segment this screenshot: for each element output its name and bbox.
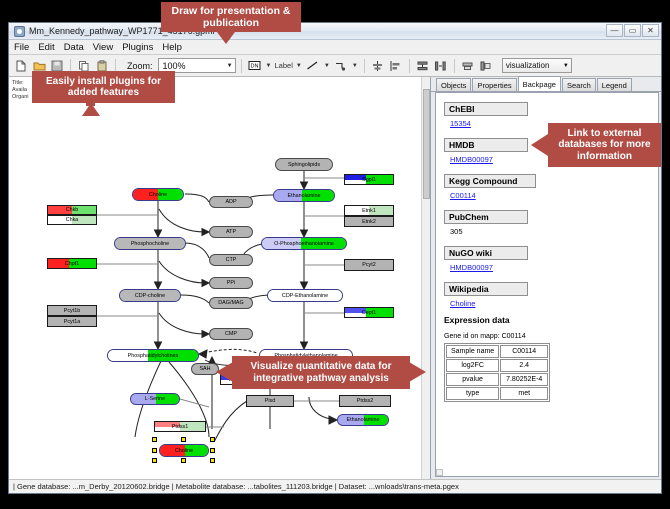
tab-properties[interactable]: Properties (472, 78, 516, 91)
tab-legend[interactable]: Legend (597, 78, 632, 91)
node-label: Phosphatidylcholines (128, 353, 179, 359)
zoom-value: 100% (163, 61, 186, 71)
status-bar-text: | Gene database: ...m_Derby_20120602.bri… (13, 482, 459, 491)
toolbar-separator-3 (241, 59, 242, 73)
node-label: L-Serine (145, 396, 165, 402)
node-label: ATP (226, 229, 236, 235)
node-label: Etnk2 (362, 219, 376, 225)
database-link[interactable]: C00114 (450, 191, 652, 200)
pathway-metabolite-node[interactable]: ADP (209, 196, 253, 208)
expression-key: pvalue (446, 373, 499, 386)
pathway-gene-node[interactable]: Etnk2 (344, 216, 394, 227)
node-label: CDP-choline (135, 293, 165, 299)
pathway-gene-node[interactable]: Chkb (47, 205, 97, 215)
pathway-gene-node[interactable]: Chpt1 (47, 258, 97, 269)
pathway-metabolite-node[interactable]: O-Phosphoethanolamine (261, 237, 347, 250)
expression-value: C00114 (500, 345, 548, 358)
pathway-metabolite-node[interactable]: PPi (209, 277, 253, 289)
callout-link-arrow (531, 134, 548, 156)
pathway-metabolite-node[interactable]: ATP (209, 226, 253, 238)
pathway-metabolite-node[interactable]: DAG/MAG (209, 297, 253, 309)
node-label: Chka (66, 217, 79, 223)
stack-icon[interactable] (460, 58, 476, 74)
visualization-combo[interactable]: visualization ▼ (502, 58, 572, 73)
side-panel-scroll-corner[interactable] (436, 469, 443, 476)
pathway-metabolite-node[interactable]: Phosphocholine (114, 237, 186, 250)
node-label: Pcyt2 (362, 262, 375, 268)
node-label: Chkb (66, 207, 79, 213)
menu-plugins[interactable]: Plugins (122, 42, 153, 53)
expression-value: met (500, 387, 548, 400)
pathway-metabolite-node[interactable]: Sphingolipids (275, 158, 333, 171)
menu-view[interactable]: View (93, 42, 113, 53)
pathway-metabolite-node[interactable]: CDP-Ethanolamine (267, 289, 343, 302)
expression-key: type (446, 387, 499, 400)
toolbar-separator-6 (454, 59, 455, 73)
pathway-gene-node[interactable]: Pcyt1b (47, 305, 97, 316)
order-icon[interactable] (478, 58, 494, 74)
tab-backpage[interactable]: Backpage (518, 76, 561, 91)
expression-table-row: pvalue7.80252E-4 (446, 373, 548, 386)
node-label: SAH (199, 366, 210, 372)
screenshot-root: Mm_Kennedy_pathway_WP1771_45176.gpml — ▭… (0, 0, 670, 509)
node-label: PPi (227, 280, 235, 286)
window-controls[interactable]: — ▭ ✕ (606, 24, 659, 37)
toolbar-separator-4 (364, 59, 365, 73)
pathway-gene-node[interactable]: Pisd (246, 395, 294, 407)
node-label: Choline (175, 448, 193, 454)
node-label: Sgpl1 (362, 177, 376, 183)
align-left-icon[interactable] (388, 58, 404, 74)
database-link[interactable]: HMDB00097 (450, 263, 652, 272)
database-section-header: ChEBI (444, 102, 528, 116)
callout-draw-arrow (217, 32, 235, 44)
database-section-header: Kegg Compound (444, 174, 536, 188)
pathway-metabolite-node[interactable]: CTP (209, 254, 253, 266)
maximize-button[interactable]: ▭ (624, 24, 641, 37)
new-icon[interactable] (13, 58, 29, 74)
node-label: Pisd (265, 398, 276, 404)
node-label: Chpt1 (65, 261, 79, 267)
datanode-chevron-icon[interactable]: ▼ (265, 63, 273, 69)
expression-value: 2.4 (500, 359, 548, 372)
node-label: Ptdss1 (172, 424, 188, 430)
pathway-gene-node[interactable]: Etnk1 (344, 205, 394, 216)
callout-visualize-arrow-left (216, 362, 233, 382)
menu-file[interactable]: File (14, 42, 29, 53)
datanode-icon[interactable]: DN (247, 58, 263, 74)
menu-edit[interactable]: Edit (38, 42, 54, 53)
node-label: Phosphocholine (131, 241, 169, 247)
database-section-header: PubChem (444, 210, 528, 224)
anchor-icon[interactable] (333, 58, 349, 74)
status-bar: | Gene database: ...m_Derby_20120602.bri… (9, 479, 661, 493)
pathway-metabolite-node[interactable]: Phosphatidylcholines (107, 349, 199, 362)
menu-bar: File Edit Data View Plugins Help (9, 40, 661, 55)
visualization-chevron-icon[interactable]: ▼ (563, 63, 569, 69)
pathway-metabolite-node[interactable]: Choline (159, 444, 209, 457)
node-label: Choline (149, 192, 167, 198)
pathway-gene-node[interactable]: Ptdss1 (154, 421, 206, 432)
pathway-gene-node[interactable]: Pcyt1a (47, 316, 97, 327)
callout-draw: Draw for presentation & publication (161, 2, 301, 32)
callout-visualize-arrow-right (409, 362, 426, 382)
label-tool-label[interactable]: Label (275, 61, 293, 70)
database-section-header: Wikipedia (444, 282, 528, 296)
expression-key: Sample name (446, 345, 499, 358)
node-label: Sphingolipids (288, 162, 320, 168)
expression-table-row: typemet (446, 387, 548, 400)
node-label: Pcyt1a (64, 319, 80, 325)
side-panel-tabs: Objects Properties Backpage Search Legen… (431, 77, 661, 92)
expression-key: log2FC (446, 359, 499, 372)
callout-visualize: Visualize quantitative data for integrat… (232, 356, 410, 389)
pathway-gene-node[interactable]: Cept1 (344, 307, 394, 318)
pathway-gene-node[interactable]: Sgpl1 (344, 174, 394, 185)
pathway-metabolite-node[interactable]: SAH (191, 363, 219, 375)
toolbar-separator-5 (409, 59, 410, 73)
tab-objects[interactable]: Objects (436, 78, 471, 91)
align-center-icon[interactable] (370, 58, 386, 74)
pathway-gene-node[interactable]: Ptdss2 (339, 395, 391, 407)
chevron-down-icon[interactable]: ▼ (227, 63, 233, 69)
minimize-button[interactable]: — (606, 24, 623, 37)
expression-table: Sample nameC00114log2FC2.4pvalue7.80252E… (444, 343, 550, 402)
pathway-metabolite-node[interactable]: CMP (209, 328, 253, 340)
close-button[interactable]: ✕ (642, 24, 659, 37)
expression-data-title: Expression data (444, 315, 652, 325)
node-label: Cept1 (362, 310, 376, 316)
pathway-canvas[interactable]: Title: Availa Organi (9, 77, 431, 479)
app-logo-icon (14, 26, 25, 37)
pathway-gene-node[interactable]: Pcyt2 (344, 259, 394, 271)
node-label: Ethanolamine (347, 417, 380, 423)
title-bar: Mm_Kennedy_pathway_WP1771_45176.gpml — ▭… (9, 23, 661, 40)
canvas-scroll-thumb[interactable] (423, 89, 430, 199)
callout-link: Link to external databases for more info… (548, 123, 661, 167)
canvas-vertical-scrollbar[interactable] (421, 77, 430, 479)
pathway-metabolite-node[interactable]: Ethanolamine (273, 189, 335, 202)
line-icon[interactable] (305, 58, 321, 74)
pathway-metabolite-node[interactable]: Ethanolamine (337, 414, 389, 426)
pathway-metabolite-node[interactable]: Choline (132, 188, 184, 201)
label-chevron-icon[interactable]: ▼ (295, 63, 303, 69)
node-label: ADP (225, 199, 236, 205)
callout-plugins-arrow (82, 103, 100, 116)
node-label: Pcyt1b (64, 308, 80, 314)
expression-value: 7.80252E-4 (500, 373, 548, 386)
pathway-gene-node[interactable]: Chka (47, 215, 97, 225)
node-label: CDP-Ethanolamine (282, 293, 328, 299)
node-label: CTP (226, 257, 237, 263)
svg-text:DN: DN (251, 64, 259, 70)
distribute-horizontal-icon[interactable] (433, 58, 449, 74)
node-label: Ethanolamine (288, 193, 321, 199)
database-section-header: NuGO wiki (444, 246, 528, 260)
gene-id-line: Gene id on mapp: C00114 (444, 333, 652, 340)
line-chevron-icon[interactable]: ▼ (323, 63, 331, 69)
node-label: Etnk1 (362, 208, 376, 214)
database-link[interactable]: Choline (450, 299, 652, 308)
expression-table-row: log2FC2.4 (446, 359, 548, 372)
menu-help[interactable]: Help (162, 42, 182, 53)
pathway-metabolite-node[interactable]: CDP-choline (119, 289, 181, 302)
anchor-chevron-icon[interactable]: ▼ (351, 63, 359, 69)
zoom-label: Zoom: (127, 61, 153, 71)
expression-table-row: Sample nameC00114 (446, 345, 548, 358)
database-section-header: HMDB (444, 138, 528, 152)
pathway-metabolite-node[interactable]: L-Serine (130, 393, 180, 405)
callout-plugins: Easily install plugins for added feature… (32, 71, 175, 103)
menu-data[interactable]: Data (64, 42, 84, 53)
node-label: DAG/MAG (218, 300, 243, 306)
tab-search[interactable]: Search (562, 78, 596, 91)
visualization-value: visualization (506, 61, 550, 70)
node-label: Ptdss2 (357, 398, 373, 404)
node-label: CMP (225, 331, 237, 337)
node-label: O-Phosphoethanolamine (274, 241, 334, 247)
database-value: 305 (450, 227, 652, 236)
distribute-vertical-icon[interactable] (415, 58, 431, 74)
